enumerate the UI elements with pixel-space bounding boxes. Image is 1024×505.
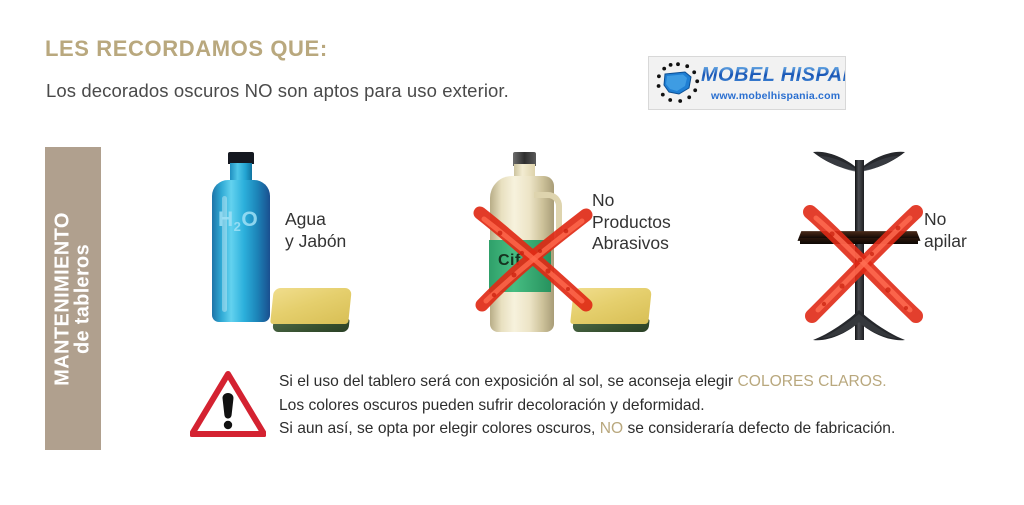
- warning-triangle-icon: [190, 371, 266, 437]
- sidebar-band-text: MANTENIMIENTO de tableros: [53, 212, 94, 386]
- panel-label-agua-y-jabon: Agua y Jabón: [285, 209, 346, 252]
- note-line-3: Si aun así, se opta por elegir colores o…: [279, 417, 895, 441]
- spain-map-stars-icon: [655, 61, 701, 105]
- water-bottle-icon: [212, 180, 270, 322]
- note-line-2: Los colores oscuros pueden sufrir decolo…: [279, 394, 895, 418]
- sponge-foam-layer: [270, 288, 352, 324]
- sponge-icon: [272, 288, 350, 336]
- note-line-1-accent: COLORES CLAROS.: [738, 373, 887, 390]
- note-line-1: Si el uso del tablero será con exposició…: [279, 370, 895, 394]
- detergent-brand-text: Cif: [498, 252, 521, 270]
- sponge-icon: [572, 288, 650, 336]
- slide-canvas: LES RECORDAMOS QUE: Los decorados oscuro…: [0, 0, 1024, 505]
- water-bottle-h2o-label: H2O: [218, 208, 266, 234]
- sponge-foam-layer: [570, 288, 652, 324]
- panel-label-no-apilar: No apilar: [924, 209, 967, 252]
- note-line-3-tail: se consideraría defecto de fabricación.: [623, 420, 895, 437]
- brand-logo[interactable]: MOBEL HISPANIA www.mobelhispania.com: [648, 56, 846, 110]
- sidebar-band: MANTENIMIENTO de tableros: [45, 147, 101, 450]
- page-title: LES RECORDAMOS QUE:: [45, 36, 328, 62]
- table-base-bottom-icon: [811, 308, 907, 342]
- tabletop-edge-icon: [800, 238, 918, 244]
- note-line-3-text: Si aun así, se opta por elegir colores o…: [279, 420, 600, 437]
- page-subtitle: Los decorados oscuros NO son aptos para …: [46, 80, 509, 102]
- logo-url: www.mobelhispania.com: [711, 90, 840, 102]
- tabletop-icon: [799, 231, 920, 238]
- panel-label-no-productos-abrasivos: No Productos Abrasivos: [592, 190, 671, 255]
- sidebar-line-2: de tableros: [73, 212, 93, 386]
- note-line-1-text: Si el uso del tablero será con exposició…: [279, 373, 738, 390]
- logo-wordmark: MOBEL HISPANIA: [701, 64, 846, 87]
- note-block: Si el uso del tablero será con exposició…: [279, 370, 895, 441]
- note-line-3-accent: NO: [600, 420, 623, 437]
- sidebar-line-1: MANTENIMIENTO: [53, 212, 73, 386]
